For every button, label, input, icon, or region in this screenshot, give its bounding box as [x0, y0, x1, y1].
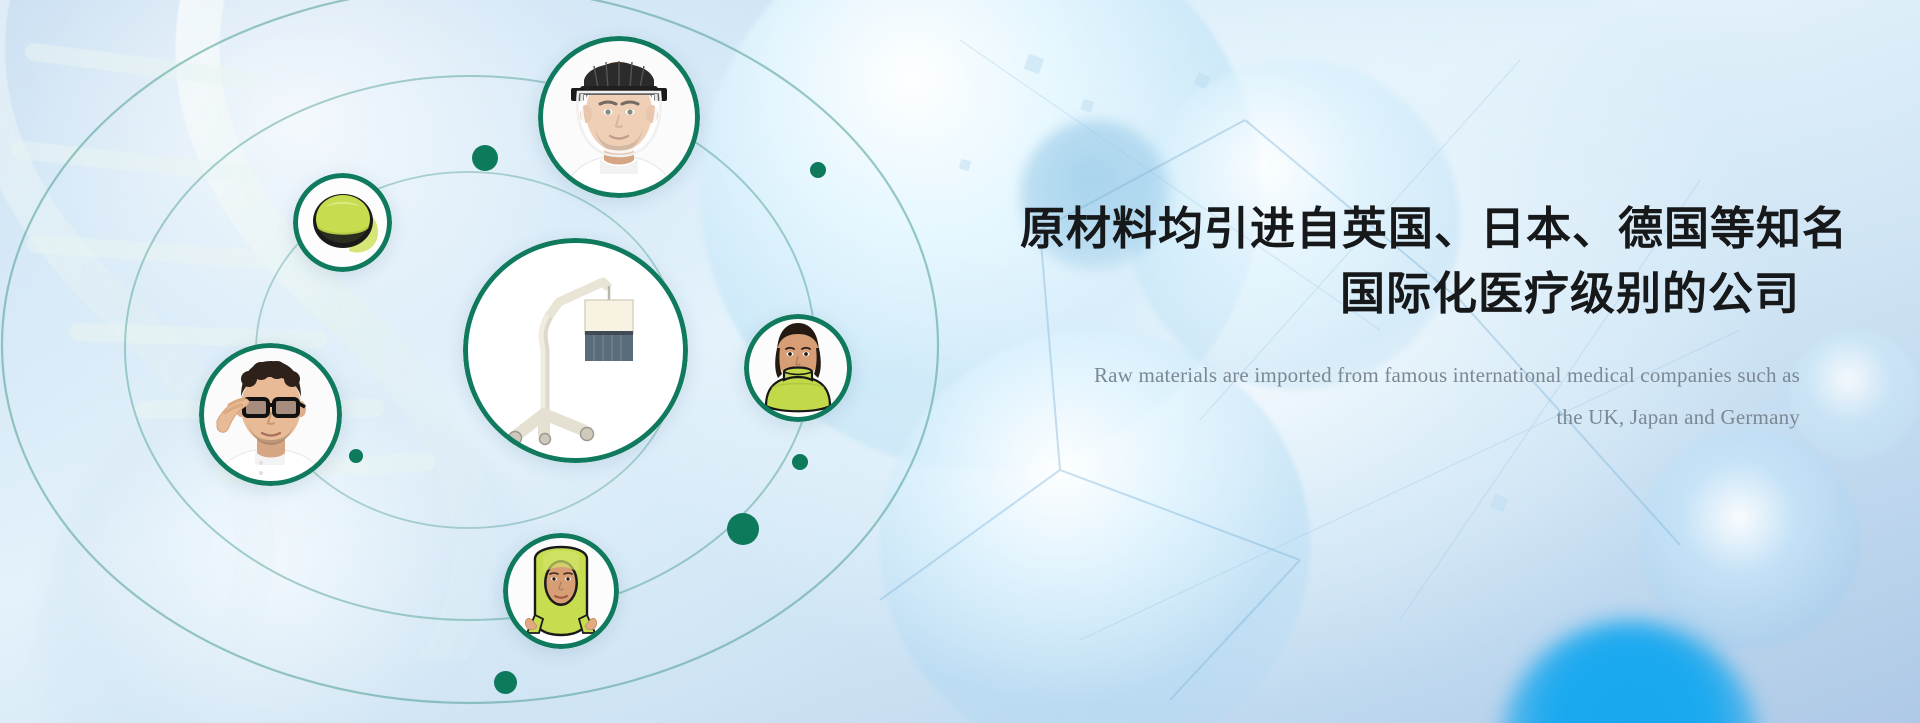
subtitle-line-2: the UK, Japan and Germany — [1020, 396, 1800, 438]
protective-hood-photo — [503, 533, 619, 649]
molecule-sphere-right — [1640, 430, 1860, 650]
thyroid-collar-photo — [744, 314, 852, 422]
page-subtitle: Raw materials are imported from famous i… — [1020, 354, 1800, 438]
mobile-x-ray-shield-photo — [463, 238, 688, 463]
orbit-dot-left — [349, 449, 363, 463]
lead-glasses-photo — [199, 343, 342, 486]
molecule-sphere-small-right — [1790, 330, 1920, 460]
headline-line-2: 国际化医疗级别的公司 — [1020, 261, 1800, 326]
promo-banner: 原材料均引进自英国、日本、德国等知名 国际化医疗级别的公司 Raw materi… — [0, 0, 1920, 723]
protective-cap-photo — [293, 173, 392, 272]
orbit-dot-upper-right — [810, 162, 826, 178]
headline-line-1: 原材料均引进自英国、日本、德国等知名 — [1020, 203, 1848, 254]
bubble-face-shield[interactable] — [538, 36, 700, 198]
banner-copy: 原材料均引进自英国、日本、德国等知名 国际化医疗级别的公司 Raw materi… — [1020, 196, 1800, 438]
page-title: 原材料均引进自英国、日本、德国等知名 国际化医疗级别的公司 — [1020, 196, 1800, 326]
orbit-dot-lower-right — [727, 513, 759, 545]
orbit-dot-bottom — [494, 671, 517, 694]
orbit-dot-right — [792, 454, 808, 470]
bubble-protective-hood[interactable] — [503, 533, 619, 649]
molecule-sphere-blue — [1500, 620, 1760, 723]
bubble-thyroid-collar[interactable] — [744, 314, 852, 422]
bubble-protective-cap[interactable] — [293, 173, 392, 272]
subtitle-line-1: Raw materials are imported from famous i… — [1094, 363, 1800, 387]
orbit-dot-top — [472, 145, 498, 171]
bubble-lead-glasses[interactable] — [199, 343, 342, 486]
bubble-mobile-x-ray-shield[interactable] — [463, 238, 688, 463]
face-shield-photo — [538, 36, 700, 198]
